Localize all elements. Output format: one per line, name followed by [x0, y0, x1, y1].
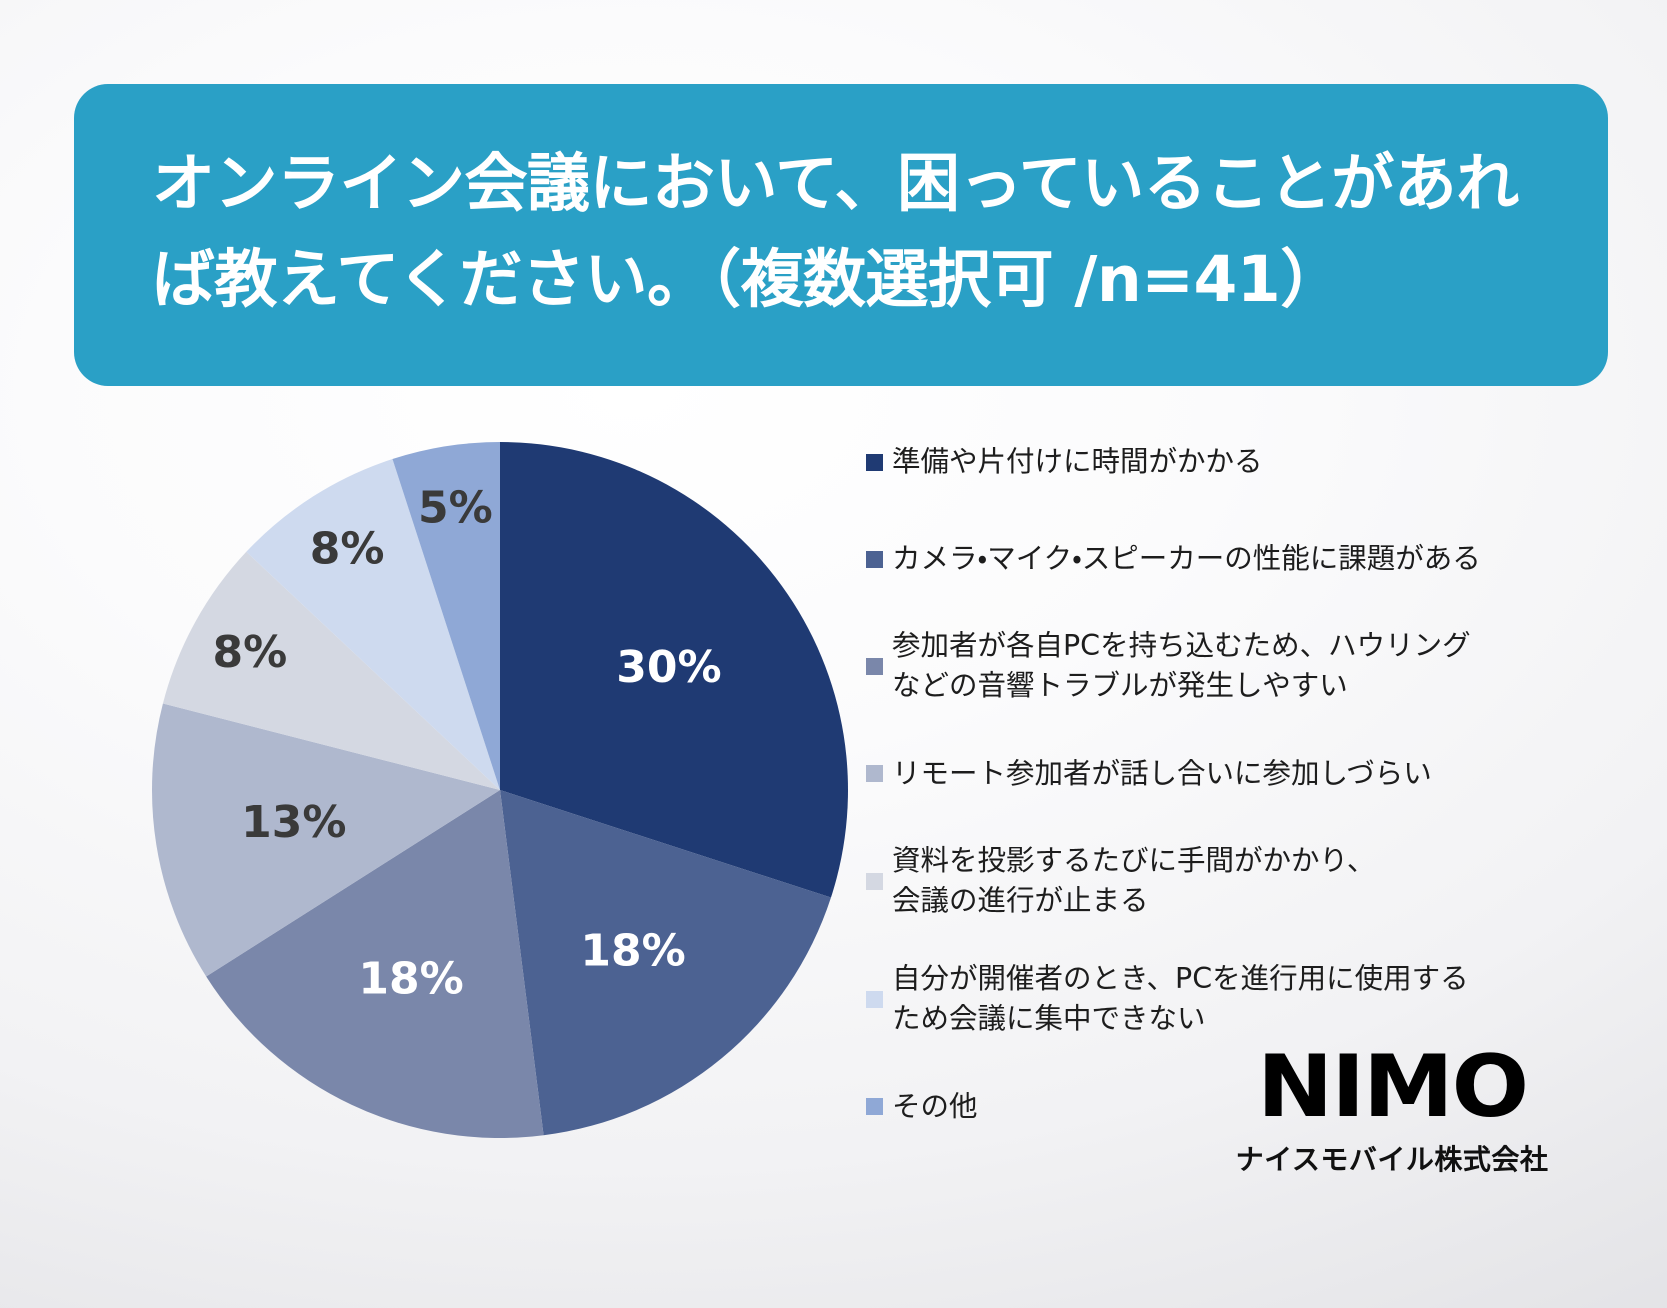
- pie-slice-group: [152, 442, 848, 1138]
- legend-color-swatch-icon: [866, 765, 883, 782]
- pie-chart: 30%18%18%13%8%8%5%: [150, 440, 850, 1140]
- legend-item[interactable]: 資料を投影するたびに手間がかかり、 会議の進行が止まる: [866, 841, 1566, 922]
- pie-slice-value-label: 8%: [310, 524, 385, 575]
- title-banner: オンライン会議において、困っていることがあれば教えてください。（複数選択可 /n…: [74, 84, 1608, 386]
- pie-slice-value-label: 18%: [358, 953, 463, 1004]
- pie-slice-value-label: 30%: [616, 642, 721, 693]
- legend-item[interactable]: 準備や片付けに時間がかかる: [866, 432, 1566, 492]
- legend-color-swatch-icon: [866, 873, 883, 890]
- logo-tagline: ナイスモバイル株式会社: [1192, 1138, 1592, 1178]
- legend-item-label: その他: [892, 1087, 978, 1127]
- legend-item-label: 参加者が各自PCを持ち込むため、ハウリング などの音響トラブルが発生しやすい: [892, 626, 1471, 707]
- legend-item[interactable]: カメラ・マイク・スピーカーの性能に課題がある: [866, 529, 1566, 589]
- legend-item-label: 準備や片付けに時間がかかる: [892, 442, 1263, 482]
- legend-item-label: 自分が開催者のとき、PCを進行用に使用する ため会議に集中できない: [892, 959, 1469, 1040]
- brand-logo: NIMO ナイスモバイル株式会社: [1192, 1044, 1592, 1178]
- logo-wordmark: NIMO: [1180, 1044, 1604, 1130]
- pie-slice-value-label: 13%: [241, 797, 346, 848]
- pie-chart-svg: 30%18%18%13%8%8%5%: [150, 440, 850, 1140]
- legend-color-swatch-icon: [866, 551, 883, 568]
- legend-item[interactable]: 自分が開催者のとき、PCを進行用に使用する ため会議に集中できない: [866, 959, 1566, 1040]
- pie-slice-value-label: 8%: [213, 627, 288, 678]
- legend-item-label: カメラ・マイク・スピーカーの性能に課題がある: [892, 539, 1481, 579]
- legend-color-swatch-icon: [866, 658, 883, 675]
- legend-item-label: リモート参加者が話し合いに参加しづらい: [892, 754, 1432, 794]
- legend-color-swatch-icon: [866, 454, 883, 471]
- pie-slice-value-label: 5%: [418, 483, 493, 534]
- pie-slice-value-label: 18%: [580, 925, 685, 976]
- legend-item[interactable]: リモート参加者が話し合いに参加しづらい: [866, 744, 1566, 804]
- legend-item[interactable]: 参加者が各自PCを持ち込むため、ハウリング などの音響トラブルが発生しやすい: [866, 626, 1566, 707]
- legend-item-label: 資料を投影するたびに手間がかかり、 会議の進行が止まる: [892, 841, 1375, 922]
- legend-color-swatch-icon: [866, 991, 883, 1008]
- slide-root: オンライン会議において、困っていることがあれば教えてください。（複数選択可 /n…: [0, 0, 1667, 1308]
- legend-color-swatch-icon: [866, 1098, 883, 1115]
- page-title: オンライン会議において、困っていることがあれば教えてください。（複数選択可 /n…: [152, 136, 1540, 328]
